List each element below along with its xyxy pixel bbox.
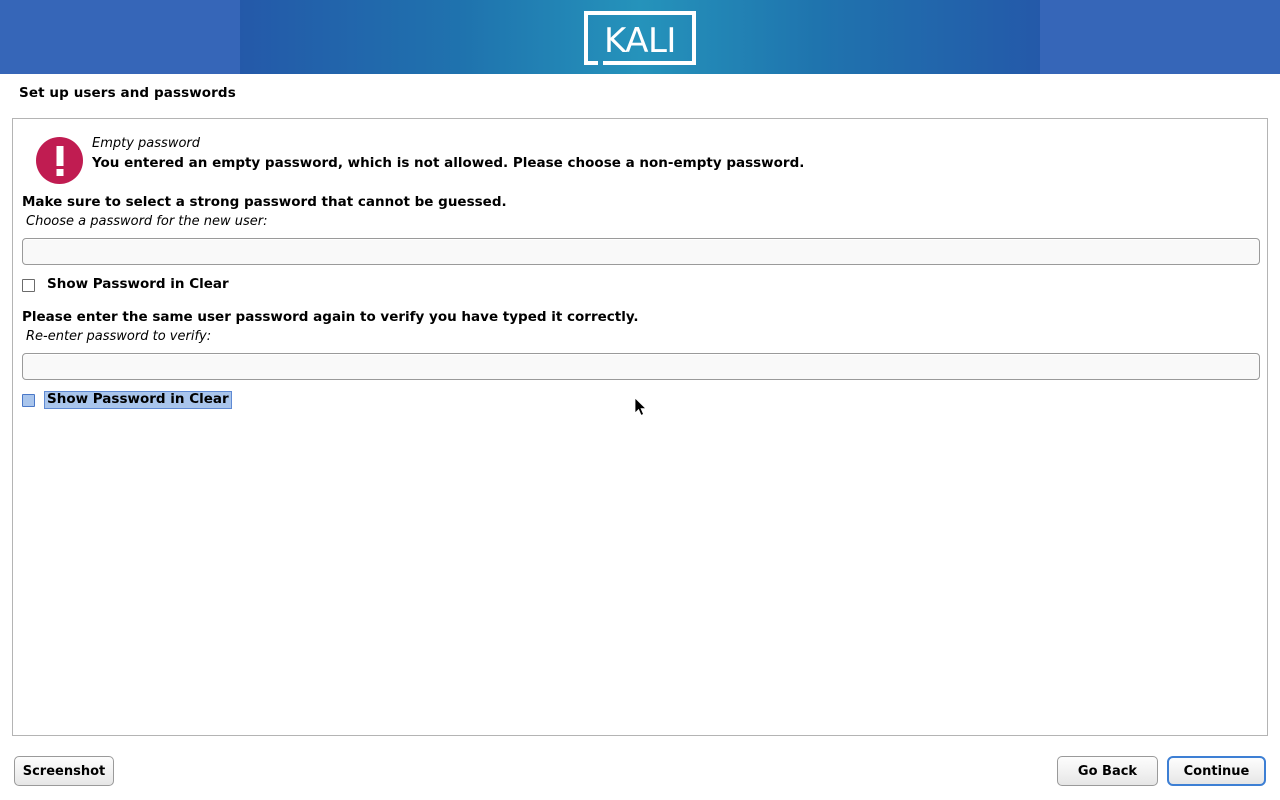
error-title: Empty password [92, 136, 200, 151]
error-exclamation-icon [36, 137, 83, 184]
verify-password-note: Please enter the same user password agai… [22, 309, 639, 325]
screenshot-button[interactable]: Screenshot [14, 756, 114, 786]
show-password-checkbox-1[interactable] [22, 279, 35, 292]
error-notice: Empty password You entered an empty pass… [24, 128, 1254, 194]
page-title: Set up users and passwords [19, 85, 236, 101]
show-password-checkbox-label-2[interactable]: Show Password in Clear [44, 391, 232, 409]
verify-password-input[interactable] [22, 353, 1260, 380]
continue-button[interactable]: Continue [1167, 756, 1266, 786]
show-password-checkbox-2[interactable] [22, 394, 35, 407]
show-password-checkbox-row-1[interactable]: Show Password in Clear [22, 275, 232, 295]
password-field-label: Choose a password for the new user: [26, 214, 268, 229]
installer-banner: KALI [0, 0, 1280, 74]
error-message: You entered an empty password, which is … [92, 155, 804, 171]
strong-password-note: Make sure to select a strong password th… [22, 194, 507, 210]
show-password-checkbox-label-1[interactable]: Show Password in Clear [44, 276, 232, 294]
show-password-checkbox-row-2[interactable]: Show Password in Clear [22, 390, 232, 410]
kali-logo-icon: KALI [583, 10, 697, 66]
svg-text:KALI: KALI [604, 21, 676, 61]
verify-field-label: Re-enter password to verify: [26, 329, 211, 344]
installer-content-panel: Empty password You entered an empty pass… [12, 118, 1268, 736]
password-input[interactable] [22, 238, 1260, 265]
go-back-button[interactable]: Go Back [1057, 756, 1158, 786]
